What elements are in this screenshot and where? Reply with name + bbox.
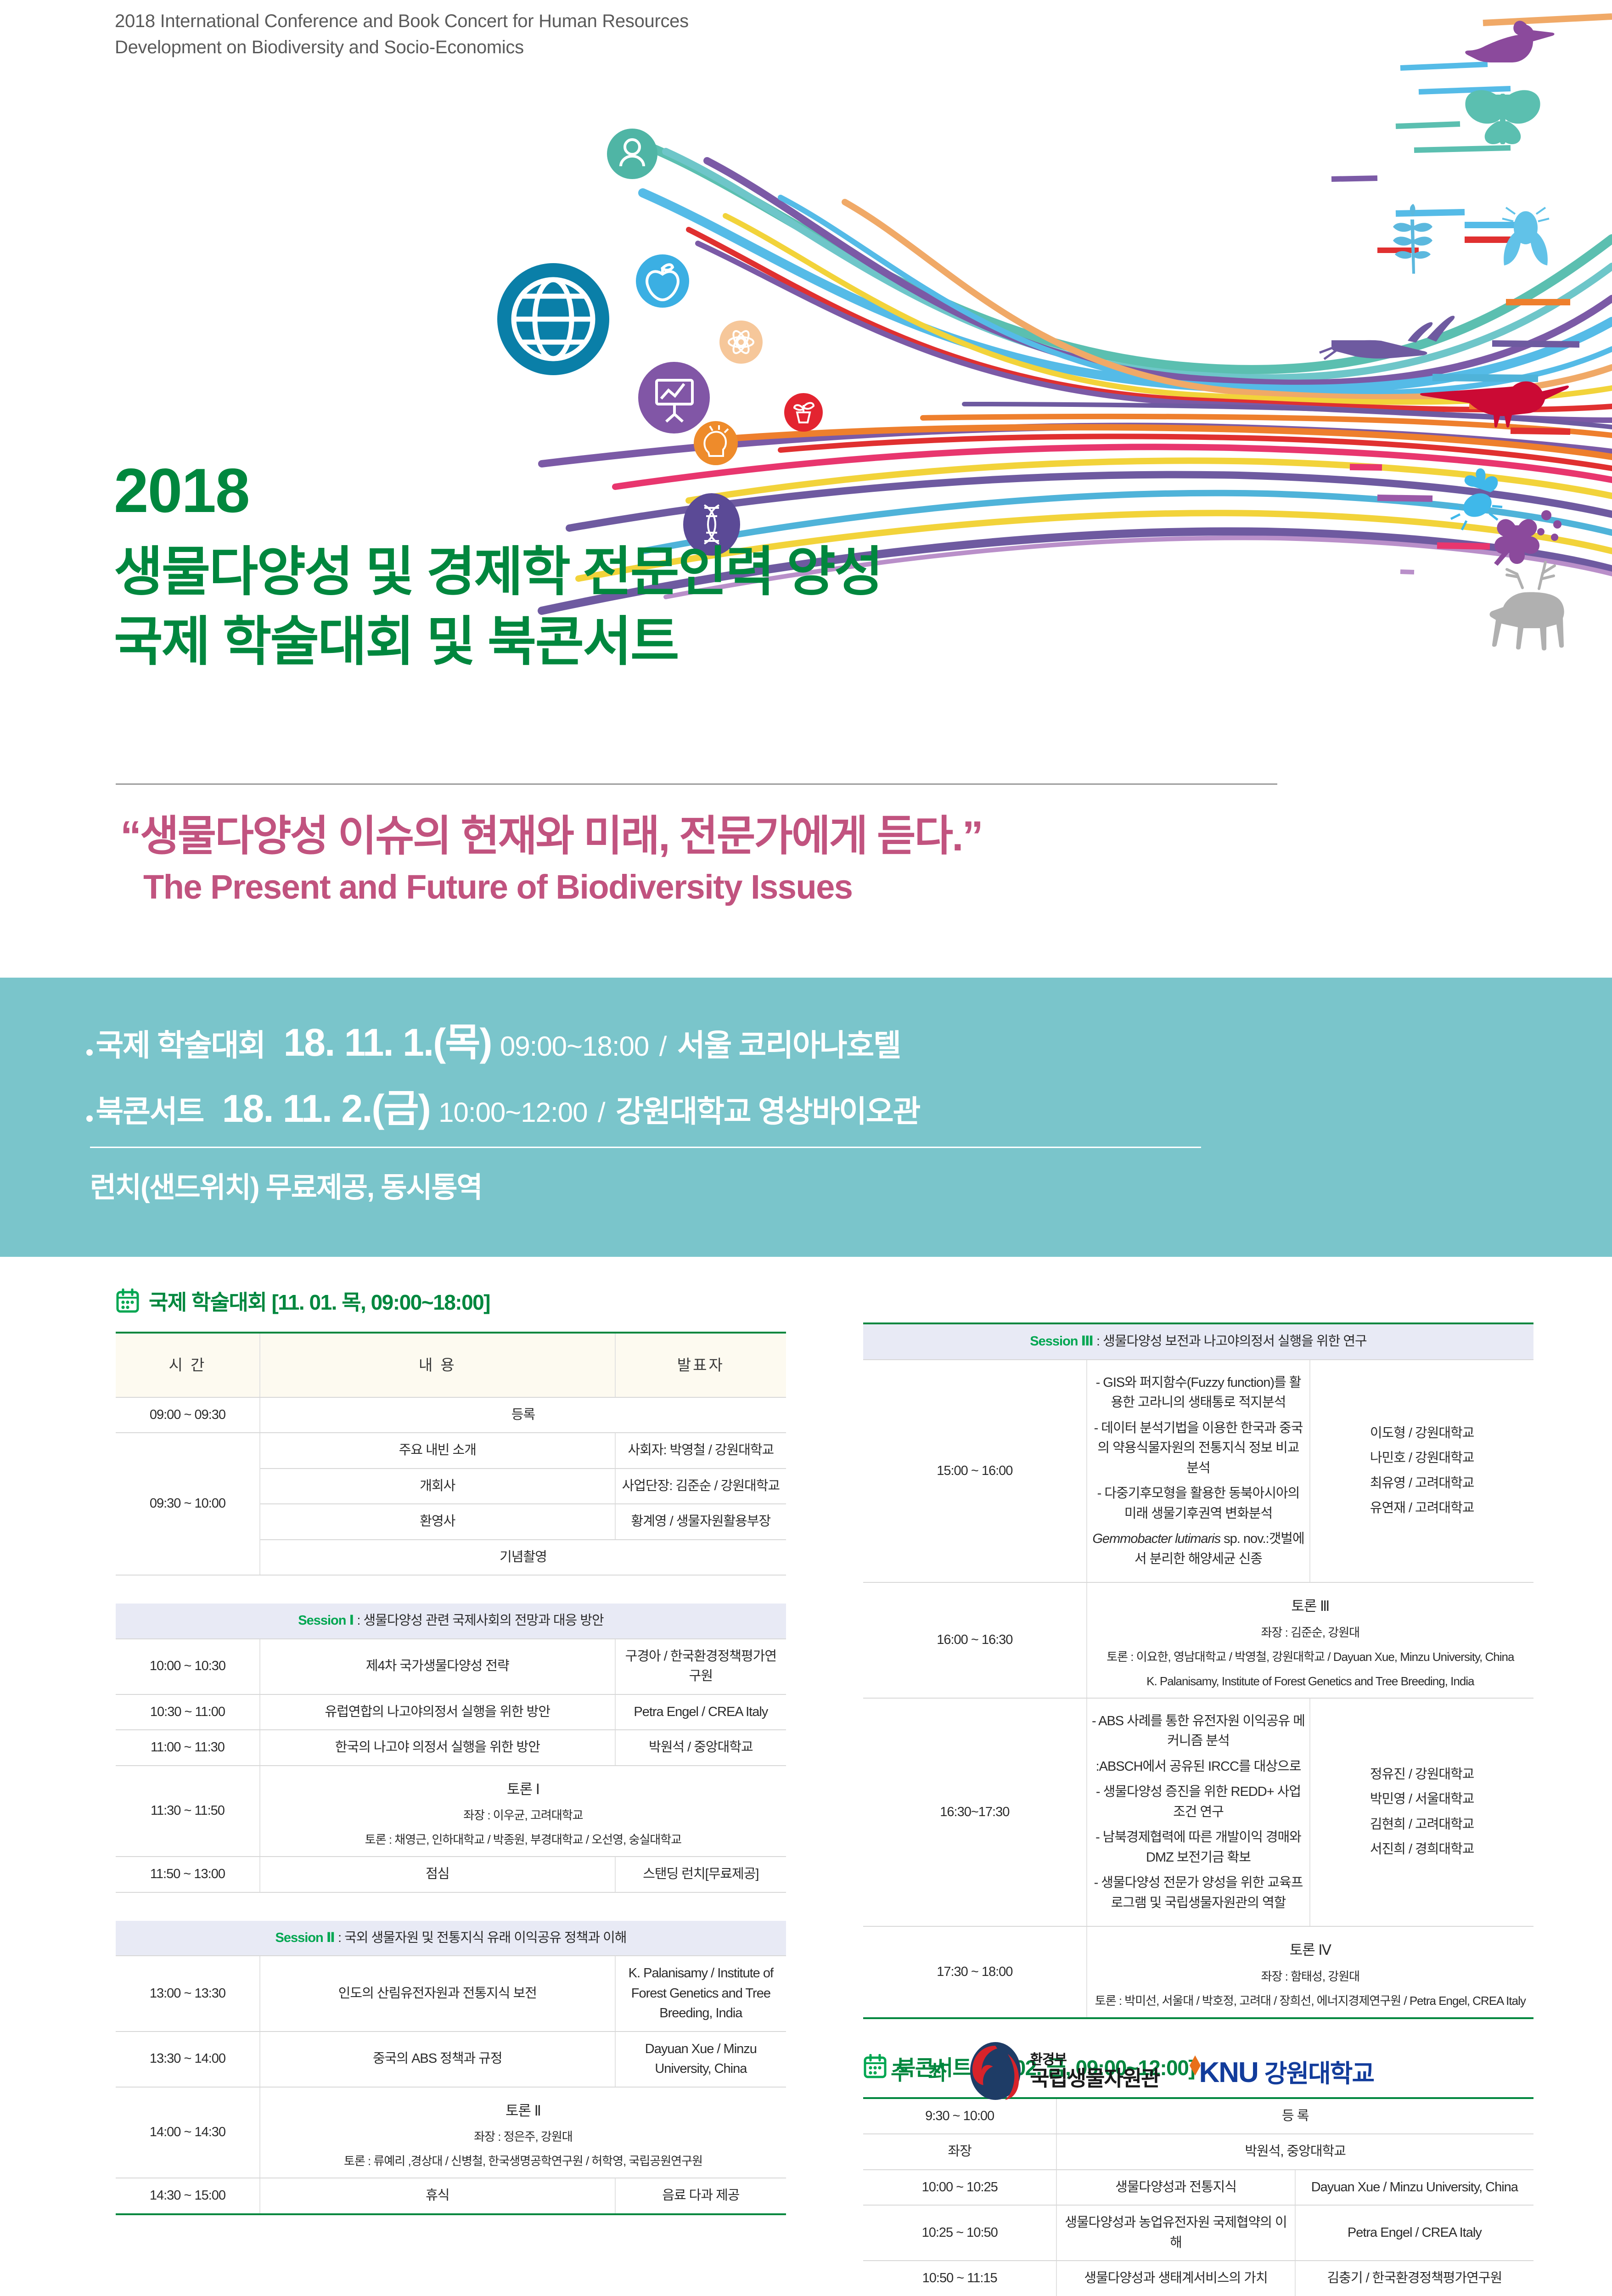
- table-row: 10:50 ~ 11:15 생물다양성과 생태계서비스의 가치 김충기 / 한국…: [863, 2261, 1533, 2296]
- speaker: 이도형 / 강원대학교: [1315, 1424, 1529, 1444]
- cell-time: 13:00 ~ 13:30: [116, 1956, 260, 2032]
- cell-time: 13:30 ~ 14:00: [116, 2032, 260, 2087]
- event1-label: 국제 학술대회: [95, 1028, 265, 1062]
- eyebrow-title: 2018 International Conference and Book C…: [115, 8, 1079, 61]
- korea-government-taegeuk-icon: [968, 2041, 1022, 2101]
- cell-speaker: Dayuan Xue / Minzu University, China: [615, 2032, 786, 2087]
- cell-content-items: - ABS 사례를 통한 유전자원 이익공유 메커니즘 분석 :ABSCH에서 …: [1087, 1698, 1310, 1927]
- cell-time: 14:30 ~ 15:00: [116, 2178, 260, 2214]
- discussion-title: 토론 Ⅳ: [1092, 1940, 1529, 1961]
- column-header-content: 내 용: [260, 1333, 615, 1397]
- session-1-label: Session Ⅰ: [298, 1613, 354, 1628]
- session-header-row: Session Ⅰ : 생물다양성 관련 국제사회의 전망과 대응 방안: [116, 1604, 786, 1639]
- cell-time: 10:50 ~ 11:15: [863, 2261, 1056, 2296]
- session-3-header: Session Ⅲ : 생물다양성 보전과 나고야의정서 실행을 위한 연구: [863, 1323, 1533, 1360]
- subtitle-english: The Present and Future of Biodiversity I…: [143, 867, 982, 906]
- cell-time: 10:00 ~ 10:30: [116, 1639, 260, 1694]
- knu-mark: KNU: [1199, 2056, 1258, 2089]
- bookconcert-table: 9:30 ~ 10:00 등 록 좌장 박원석, 중앙대학교 10:00 ~ 1…: [863, 2097, 1533, 2296]
- column-header-speaker: 발표자: [615, 1333, 786, 1397]
- discussion-title: 토론 Ⅱ: [265, 2100, 781, 2122]
- cell-content: 생물다양성과 전통지식: [1056, 2170, 1295, 2206]
- cell-content: 박원석, 중앙대학교: [1056, 2134, 1533, 2170]
- speaker: 서진희 / 경희대학교: [1315, 1840, 1529, 1860]
- discussion-title: 토론 Ⅲ: [1092, 1596, 1529, 1617]
- table-row: 10:00 ~ 10:30 제4차 국가생물다양성 전략 구경아 / 한국환경정…: [116, 1639, 786, 1694]
- cell-content-items: - GIS와 퍼지함수(Fuzzy function)를 활용한 고라니의 생태…: [1087, 1360, 1310, 1583]
- brain-idea-icon: [694, 421, 738, 465]
- event2-date: 18. 11. 2.(금): [206, 1087, 430, 1130]
- cell-speaker: Petra Engel / CREA Italy: [1295, 2205, 1533, 2261]
- event1-time: 09:00~18:00: [494, 1031, 649, 1062]
- cicada-silhouette: [1502, 208, 1549, 265]
- session3-and-bookconcert-column: Session Ⅲ : 생물다양성 보전과 나고야의정서 실행을 위한 연구 1…: [863, 1322, 1533, 2296]
- session-3-title: : 생물다양성 보전과 나고야의정서 실행을 위한 연구: [1093, 1334, 1367, 1349]
- event1-separator: /: [651, 1031, 675, 1062]
- cell-content: 개회사: [260, 1469, 615, 1504]
- cell-time: 16:30~17:30: [863, 1698, 1087, 1927]
- cell-discussion: 토론 Ⅳ 좌장 : 함태성, 강원대 토론 : 박미선, 서울대 / 박호정, …: [1087, 1926, 1533, 2018]
- footer-logos: 주 최 환경부 국립생물자원관 KNU 강원대학교: [891, 2030, 1533, 2112]
- knu-university-name: 강원대학교: [1264, 2053, 1374, 2089]
- event2-label: 북콘서트: [95, 1094, 203, 1128]
- cell-speaker: 음료 다과 제공: [615, 2178, 786, 2214]
- cell-content: 중국의 ABS 정책과 규정: [260, 2032, 615, 2087]
- cell-speaker: 황계영 / 생물자원활용부장: [615, 1504, 786, 1540]
- eyebrow-line-1: 2018 International Conference and Book C…: [115, 8, 1079, 34]
- discussion-panel: 토론 : 이요한, 영남대학교 / 박영철, 강원대학교 / Dayuan Xu…: [1092, 1648, 1529, 1666]
- cell-content: 생물다양성과 생태계서비스의 가치: [1056, 2261, 1295, 2296]
- cell-speaker: 사업단장: 김준순 / 강원대학교: [615, 1469, 786, 1504]
- cell-content: 제4차 국가생물다양성 전략: [260, 1639, 615, 1694]
- table-row: 17:30 ~ 18:00 토론 Ⅳ 좌장 : 함태성, 강원대 토론 : 박미…: [863, 1926, 1533, 2018]
- cell-content: 휴식: [260, 2178, 615, 2214]
- item: - GIS와 퍼지함수(Fuzzy function)를 활용한 고라니의 생태…: [1092, 1373, 1305, 1413]
- calendar-icon: [863, 2054, 887, 2079]
- cell-speaker: K. Palanisamy / Institute of Forest Gene…: [615, 1956, 786, 2032]
- nibr-logo: 환경부 국립생물자원관: [968, 2041, 1159, 2101]
- plant-pot-icon: [784, 393, 823, 432]
- cell-speaker: Dayuan Xue / Minzu University, China: [1295, 2170, 1533, 2206]
- apple-icon: [636, 254, 689, 308]
- discussion-chair: 좌장 : 정은주, 강원대: [265, 2128, 781, 2146]
- animal-silhouettes: [1320, 21, 1569, 650]
- event2-separator: /: [590, 1097, 614, 1128]
- cell-time: 11:30 ~ 11:50: [116, 1766, 260, 1857]
- event-info-row-conference: 국제 학술대회 18. 11. 1.(목) 09:00~18:00 / 서울 코…: [85, 1012, 900, 1067]
- beetle-silhouette: [1449, 468, 1502, 530]
- cell-speaker: 박원석 / 중앙대학교: [615, 1730, 786, 1766]
- subtitle-korean: “생물다양성 이슈의 현재와 미래, 전문가에게 듣다.”: [120, 813, 982, 860]
- page-title: 2018 생물다양성 및 경제학 전문인력 양성 국제 학술대회 및 북콘서트: [114, 459, 882, 675]
- item: - 다중기후모형을 활용한 동북아시아의 미래 생물기후권역 변화분석: [1092, 1484, 1305, 1524]
- session-2-label: Session Ⅱ: [275, 1930, 335, 1945]
- band-divider: [90, 1147, 1201, 1148]
- item: :ABSCH에서 공유된 IRCC를 대상으로: [1092, 1757, 1305, 1777]
- knu-logo: KNU 강원대학교: [1187, 2053, 1374, 2089]
- cell-time: 11:50 ~ 13:00: [116, 1857, 260, 1892]
- cell-time: 좌장: [863, 2134, 1056, 2170]
- cell-content: 주요 내빈 소개: [260, 1433, 615, 1469]
- item-species: Gemmobacter lutimaris sp. nov.:갯벌에서 분리한 …: [1092, 1529, 1305, 1569]
- speaker: 최유영 / 고려대학교: [1315, 1474, 1529, 1494]
- conference-table: 시 간 내 용 발표자 09:00 ~ 09:30 등록 09:30 ~ 10:…: [116, 1332, 786, 2215]
- speaker: 나민호 / 강원대학교: [1315, 1448, 1529, 1469]
- globe-icon: [497, 263, 609, 375]
- event-info-band: 국제 학술대회 18. 11. 1.(목) 09:00~18:00 / 서울 코…: [0, 978, 1612, 1257]
- cell-content: 한국의 나고야 의정서 실행을 위한 방안: [260, 1730, 615, 1766]
- title-divider: [116, 783, 1277, 785]
- event2-place: 강원대학교 영상바이오관: [616, 1094, 920, 1128]
- discussion-chair: 좌장 : 김준순, 강원대: [1092, 1624, 1529, 1642]
- speaker: 김현희 / 고려대학교: [1315, 1815, 1529, 1835]
- conference-section-header: 국제 학술대회 [11. 01. 목, 09:00~18:00]: [116, 1286, 786, 1316]
- flower-silhouette: [1494, 510, 1561, 566]
- host-label: 주 최: [891, 2056, 953, 2086]
- title-korean-line-2: 국제 학술대회 및 북콘서트: [114, 608, 882, 675]
- discussion-panel-2: K. Palanisamy, Institute of Forest Genet…: [1092, 1672, 1529, 1690]
- event2-time: 10:00~12:00: [432, 1097, 587, 1128]
- cell-time: 10:30 ~ 11:00: [116, 1694, 260, 1730]
- bullet-icon: [85, 1048, 94, 1059]
- session-2-title: : 국외 생물자원 및 전통지식 유래 이익공유 정책과 이해: [335, 1930, 627, 1945]
- institute-name: 국립생물자원관: [1030, 2067, 1159, 2089]
- cell-time: 15:00 ~ 16:00: [863, 1360, 1087, 1583]
- cell-time: 09:00 ~ 09:30: [116, 1397, 260, 1433]
- cell-speaker: 사회자: 박영철 / 강원대학교: [615, 1433, 786, 1469]
- cell-time: 10:00 ~ 10:25: [863, 2170, 1056, 2206]
- discussion-panel: 토론 : 박미선, 서울대 / 박호정, 고려대 / 장희선, 에너지경제연구원…: [1092, 1992, 1529, 2010]
- session-header-row: Session Ⅲ : 생물다양성 보전과 나고야의정서 실행을 위한 연구: [863, 1323, 1533, 1360]
- cell-speaker: 구경아 / 한국환경정책평가연구원: [615, 1639, 786, 1694]
- bullet-icon: [85, 1114, 94, 1125]
- item: - 생물다양성 전문가 양성을 위한 교육프로그램 및 국립생물자원관의 역할: [1092, 1873, 1305, 1913]
- cell-time: 14:00 ~ 14:30: [116, 2087, 260, 2178]
- cell-content: 인도의 산림유전자원과 전통지식 보전: [260, 1956, 615, 2032]
- session-3-label: Session Ⅲ: [1030, 1334, 1093, 1349]
- cell-content: 유럽연합의 나고야의정서 실행을 위한 방안: [260, 1694, 615, 1730]
- table-row: 15:00 ~ 16:00 - GIS와 퍼지함수(Fuzzy function…: [863, 1360, 1533, 1583]
- eyebrow-line-2: Development on Biodiversity and Socio-Ec…: [115, 34, 1079, 61]
- cell-speakers: 이도형 / 강원대학교 나민호 / 강원대학교 최유영 / 고려대학교 유연재 …: [1310, 1360, 1533, 1583]
- cell-content: 기념촬영: [260, 1540, 786, 1576]
- table-row: 09:30 ~ 10:00 주요 내빈 소개 사회자: 박영철 / 강원대학교: [116, 1433, 786, 1469]
- cell-content: 생물다양성과 농업유전자원 국제협약의 이해: [1056, 2205, 1295, 2261]
- table-row: 11:00 ~ 11:30 한국의 나고야 의정서 실행을 위한 방안 박원석 …: [116, 1730, 786, 1766]
- presentation-chart-icon: [638, 362, 710, 433]
- cell-discussion: 토론 Ⅰ 좌장 : 이우균, 고려대학교 토론 : 채영근, 인하대학교 / 박…: [260, 1766, 786, 1857]
- table-row: 16:00 ~ 16:30 토론 Ⅲ 좌장 : 김준순, 강원대 토론 : 이요…: [863, 1582, 1533, 1698]
- event1-place: 서울 코리아나호텔: [677, 1028, 900, 1062]
- table-row: 10:25 ~ 10:50 생물다양성과 농업유전자원 국제협약의 이해 Pet…: [863, 2205, 1533, 2261]
- item: - ABS 사례를 통한 유전자원 이익공유 메커니즘 분석: [1092, 1711, 1305, 1751]
- conference-title: 국제 학술대회 [11. 01. 목, 09:00~18:00]: [149, 1286, 490, 1316]
- cell-speaker: Petra Engel / CREA Italy: [615, 1694, 786, 1730]
- grasshopper-silhouette: [1320, 316, 1455, 359]
- event-info-row-bookconcert: 북콘서트 18. 11. 2.(금) 10:00~12:00 / 강원대학교 영…: [85, 1078, 920, 1133]
- event1-date: 18. 11. 1.(목): [267, 1021, 492, 1064]
- table-row: 13:30 ~ 14:00 중국의 ABS 정책과 규정 Dayuan Xue …: [116, 2032, 786, 2087]
- table-row: 11:50 ~ 13:00 점심 스탠딩 런치[무료제공]: [116, 1857, 786, 1892]
- cell-time: 16:00 ~ 16:30: [863, 1582, 1087, 1698]
- table-row: 좌장 박원석, 중앙대학교: [863, 2134, 1533, 2170]
- bird-silhouette: [1420, 381, 1569, 428]
- table-header-row: 시 간 내 용 발표자: [116, 1333, 786, 1397]
- deer-silhouette: [1490, 562, 1564, 651]
- table-row: 10:00 ~ 10:25 생물다양성과 전통지식 Dayuan Xue / M…: [863, 2170, 1533, 2206]
- subtitle-block: “생물다양성 이슈의 현재와 미래, 전문가에게 듣다.” The Presen…: [120, 813, 982, 906]
- conference-schedule-column: 국제 학술대회 [11. 01. 목, 09:00~18:00] 시 간 내 용…: [116, 1286, 786, 2215]
- discussion-chair: 좌장 : 함태성, 강원대: [1092, 1968, 1529, 1986]
- table-row: 14:30 ~ 15:00 휴식 음료 다과 제공: [116, 2178, 786, 2214]
- plant-sprig-silhouette: [1393, 204, 1432, 274]
- cell-time: 09:30 ~ 10:00: [116, 1433, 260, 1575]
- cell-time: 10:25 ~ 10:50: [863, 2205, 1056, 2261]
- cell-speakers: 정유진 / 강원대학교 박민영 / 서울대학교 김현희 / 고려대학교 서진희 …: [1310, 1698, 1533, 1927]
- session-header-row: Session Ⅱ : 국외 생물자원 및 전통지식 유래 이익공유 정책과 이…: [116, 1921, 786, 1956]
- calendar-icon: [116, 1289, 140, 1313]
- item: - 남북경제협력에 따른 개발이익 경매와 DMZ 보전기금 확보: [1092, 1828, 1305, 1868]
- item: - 생물다양성 증진을 위한 REDD+ 사업 조건 연구: [1092, 1782, 1305, 1822]
- title-korean-line-1: 생물다양성 및 경제학 전문인력 양성: [114, 538, 882, 605]
- cell-content: 환영사: [260, 1504, 615, 1540]
- cell-discussion: 토론 Ⅲ 좌장 : 김준순, 강원대 토론 : 이요한, 영남대학교 / 박영철…: [1087, 1582, 1533, 1698]
- ministry-name: 환경부: [1030, 2053, 1159, 2067]
- discussion-panel: 토론 : 류예리 ,경상대 / 신병철, 한국생명공학연구원 / 허학영, 국립…: [265, 2152, 781, 2170]
- session-1-header: Session Ⅰ : 생물다양성 관련 국제사회의 전망과 대응 방안: [116, 1604, 786, 1639]
- cell-content: 점심: [260, 1857, 615, 1892]
- event-note: 런치(샌드위치) 무료제공, 동시통역: [90, 1164, 482, 1205]
- duck-silhouette: [1465, 21, 1554, 70]
- discussion-title: 토론 Ⅰ: [265, 1779, 781, 1801]
- table-row: 11:30 ~ 11:50 토론 Ⅰ 좌장 : 이우균, 고려대학교 토론 : …: [116, 1766, 786, 1857]
- discussion-chair: 좌장 : 이우균, 고려대학교: [265, 1806, 781, 1824]
- species-name: Gemmobacter lutimaris: [1092, 1531, 1220, 1546]
- item: - 데이터 분석기법을 이용한 한국과 중국의 약용식물자원의 전통지식 정보 …: [1092, 1418, 1305, 1479]
- table-row: 16:30~17:30 - ABS 사례를 통한 유전자원 이익공유 메커니즘 …: [863, 1698, 1533, 1927]
- person-icon: [607, 129, 657, 179]
- butterfly-silhouette: [1465, 90, 1540, 144]
- session-1-title: : 생물다양성 관련 국제사회의 전망과 대응 방안: [354, 1613, 603, 1628]
- cell-speaker: 스탠딩 런치[무료제공]: [615, 1857, 786, 1892]
- cell-content: 등록: [260, 1397, 786, 1433]
- speaker: 유연재 / 고려대학교: [1315, 1498, 1529, 1519]
- session-2-header: Session Ⅱ : 국외 생물자원 및 전통지식 유래 이익공유 정책과 이…: [116, 1921, 786, 1956]
- cell-time: 17:30 ~ 18:00: [863, 1926, 1087, 2018]
- column-header-time: 시 간: [116, 1333, 260, 1397]
- speaker: 정유진 / 강원대학교: [1315, 1765, 1529, 1785]
- cell-discussion: 토론 Ⅱ 좌장 : 정은주, 강원대 토론 : 류예리 ,경상대 / 신병철, …: [260, 2087, 786, 2178]
- cell-time: 11:00 ~ 11:30: [116, 1730, 260, 1766]
- table-row: 09:00 ~ 09:30 등록: [116, 1397, 786, 1433]
- table-row: 14:00 ~ 14:30 토론 Ⅱ 좌장 : 정은주, 강원대 토론 : 류예…: [116, 2087, 786, 2178]
- table-row: 10:30 ~ 11:00 유럽연합의 나고야의정서 실행을 위한 방안 Pet…: [116, 1694, 786, 1730]
- table-row: 13:00 ~ 13:30 인도의 산림유전자원과 전통지식 보전 K. Pal…: [116, 1956, 786, 2032]
- session3-table: Session Ⅲ : 생물다양성 보전과 나고야의정서 실행을 위한 연구 1…: [863, 1322, 1533, 2019]
- speaker: 박민영 / 서울대학교: [1315, 1790, 1529, 1810]
- discussion-panel: 토론 : 채영근, 인하대학교 / 박종원, 부경대학교 / 오선영, 숭실대학…: [265, 1831, 781, 1849]
- atom-icon: [719, 321, 763, 364]
- cell-speaker: 김충기 / 한국환경정책평가연구원: [1295, 2261, 1533, 2296]
- title-year: 2018: [114, 459, 882, 522]
